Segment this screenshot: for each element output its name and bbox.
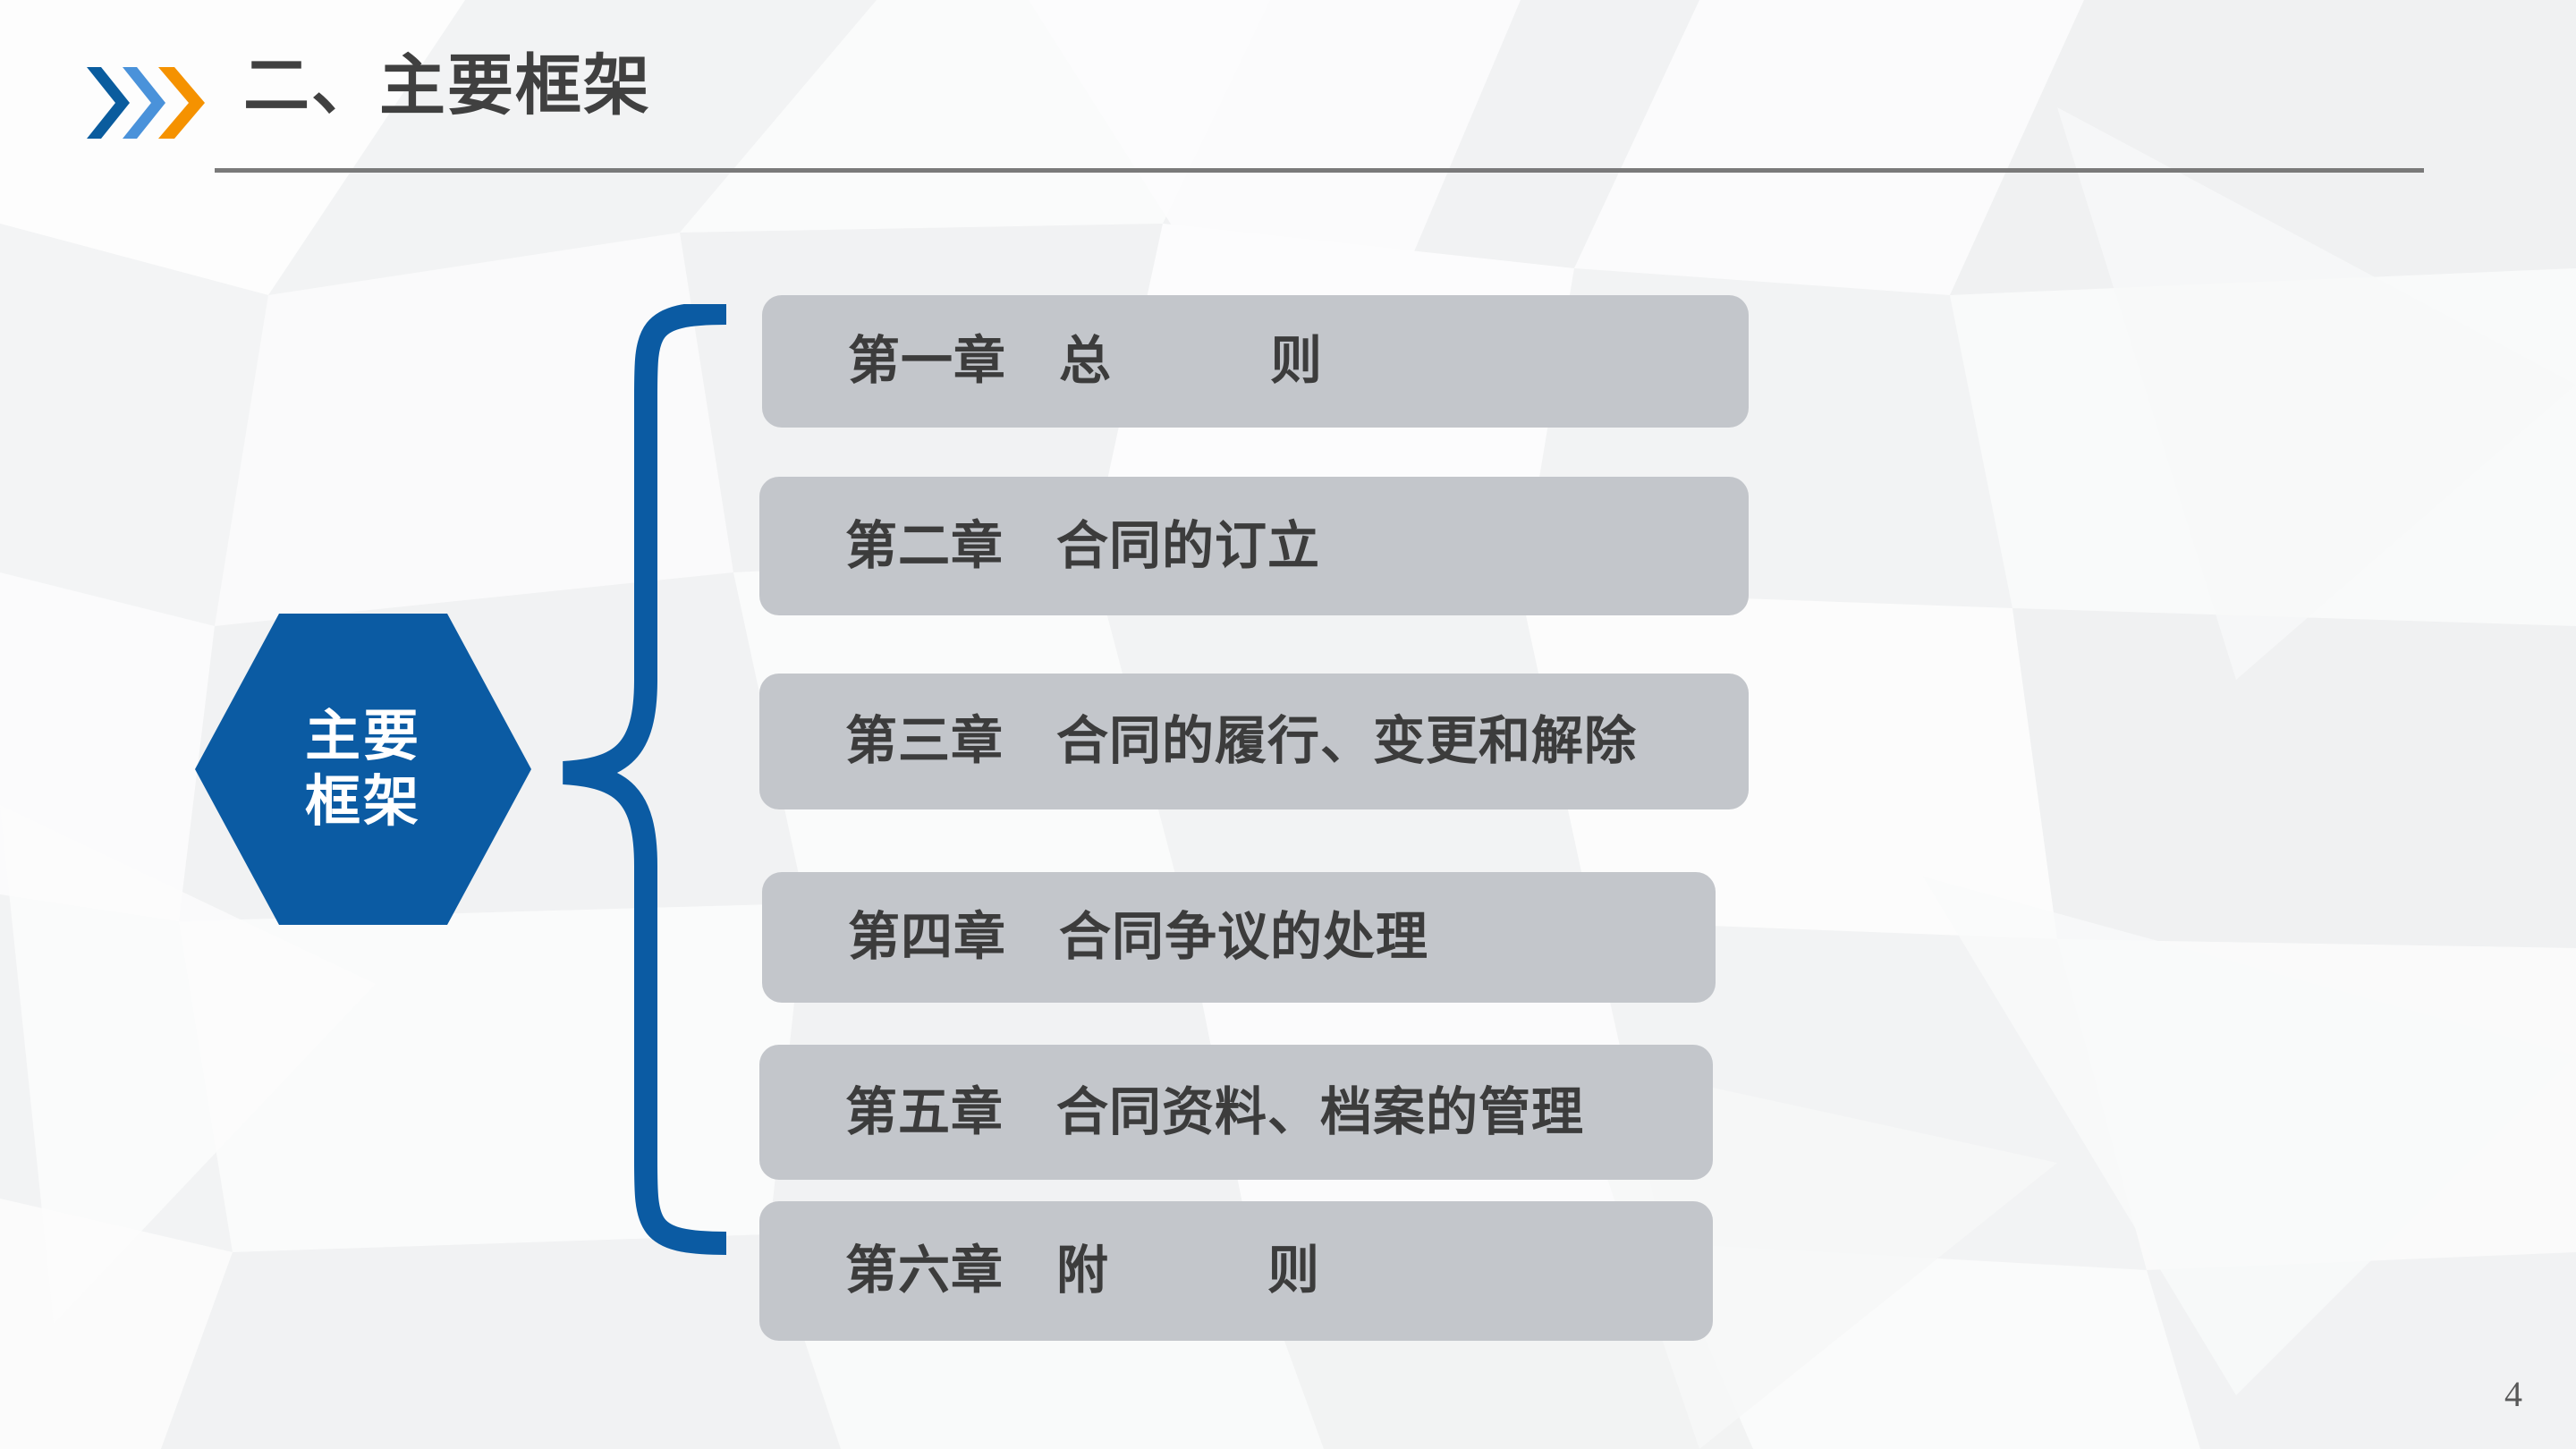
chapter-bar-3[interactable]: 第三章 合同的履行、变更和解除: [759, 674, 1749, 809]
chapter-bar-6[interactable]: 第六章 附 则: [759, 1201, 1713, 1341]
page-title: 二、主要框架: [243, 45, 651, 128]
slide-header: 二、主要框架: [0, 0, 2576, 197]
page-number: 4: [2504, 1373, 2522, 1415]
chapter-bar-6-label: 第六章 附 则: [845, 1245, 1320, 1297]
chapter-bar-5[interactable]: 第五章 合同资料、档案的管理: [759, 1045, 1713, 1180]
chapter-bar-1-label: 第一章 总 则: [848, 335, 1323, 387]
chapter-bar-1[interactable]: 第一章 总 则: [762, 295, 1749, 428]
title-underline-rule: [215, 168, 2424, 173]
hexagon-label-line-2: 框架: [305, 769, 421, 835]
chapter-bar-2-label: 第二章 合同的订立: [845, 521, 1320, 572]
hexagon-label-line-1: 主要: [305, 704, 421, 769]
chevron-decoration-group: [85, 64, 219, 141]
chevron-1-icon: [87, 67, 130, 139]
hexagon-label: 主要 框架: [195, 614, 531, 925]
chapter-bar-4-label: 第四章 合同争议的处理: [848, 911, 1428, 963]
chapter-bar-5-label: 第五章 合同资料、档案的管理: [845, 1087, 1584, 1139]
chapter-bar-3-label: 第三章 合同的履行、变更和解除: [845, 716, 1637, 767]
slide-canvas: 二、主要框架 主要 框架 第一章 总 则 第二章 合同的订立 第三章 合同的履行…: [0, 0, 2576, 1449]
chapter-bar-4[interactable]: 第四章 合同争议的处理: [762, 872, 1716, 1003]
chapter-bar-2[interactable]: 第二章 合同的订立: [759, 477, 1749, 615]
main-framework-hexagon: 主要 框架: [195, 614, 531, 925]
